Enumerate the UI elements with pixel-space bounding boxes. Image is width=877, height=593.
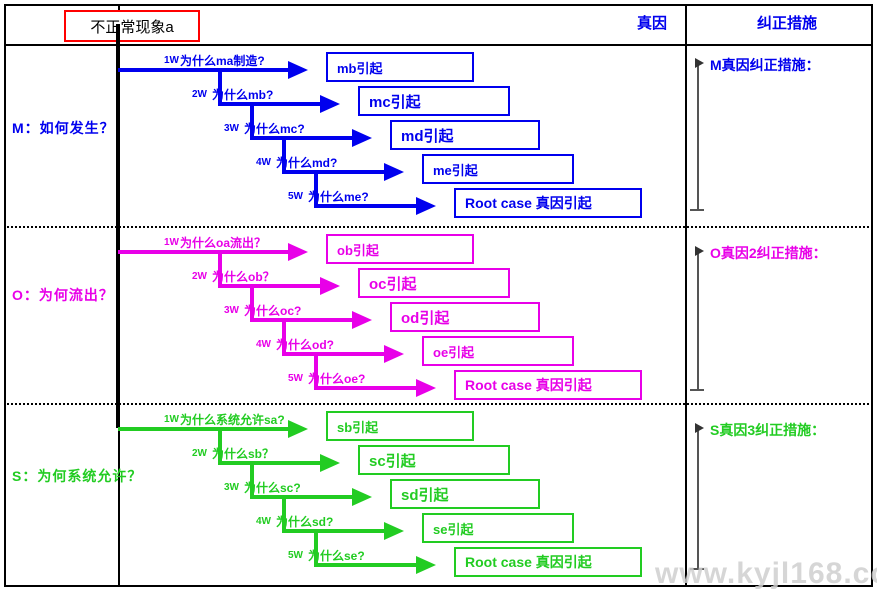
cause-box-label: Root case 真因引起	[456, 375, 592, 395]
table-right-border	[871, 4, 873, 587]
section-divider-m-o	[4, 226, 873, 228]
cause-box-label: se引起	[424, 519, 473, 538]
arrow-icon-m-5w	[416, 197, 436, 215]
why-count-label: 3W	[224, 305, 239, 316]
fishbone-5why-diagram: 真因 纠正措施 不正常现象a M：如何发生？1W为什么ma制造?mb引起2W为什…	[0, 0, 877, 593]
why-question-o-1w: 为什么oa流出？	[180, 234, 266, 251]
why-count-label: 5W	[288, 373, 303, 384]
cause-box-label: mb引起	[328, 58, 383, 77]
cause-box-m-1[interactable]: mb引起	[326, 52, 474, 82]
cause-box-label: md引起	[392, 125, 454, 146]
why-question-m-4w: 为什么md?	[276, 154, 337, 171]
cause-box-o-3[interactable]: od引起	[390, 302, 540, 332]
abnormal-phenomenon-box[interactable]: 不正常现象a	[64, 10, 200, 42]
why-question-o-5w: 为什么oe?	[308, 370, 365, 387]
why-question-s-1w: 为什么系统允许sa?	[180, 411, 285, 428]
why-count-label: 5W	[288, 550, 303, 561]
header-bottom-border	[4, 44, 873, 46]
cause-box-label: sc引起	[360, 450, 416, 471]
table-left-border	[4, 4, 6, 587]
arrow-icon-m-3w	[352, 129, 372, 147]
cause-box-m-5[interactable]: Root case 真因引起	[454, 188, 642, 218]
section-label-o: O：为何流出？	[12, 285, 114, 305]
header-root-cause: 真因	[637, 12, 667, 33]
arrow-icon-o-2w	[320, 277, 340, 295]
cause-box-m-2[interactable]: mc引起	[358, 86, 510, 116]
why-question-s-2w: 为什么sb？	[212, 445, 274, 462]
cause-box-o-5[interactable]: Root case 真因引起	[454, 370, 642, 400]
action-pointer-icon-o	[695, 246, 704, 256]
section-label-m: M：如何发生？	[12, 118, 115, 138]
why-count-label: 2W	[192, 448, 207, 459]
why-count-label: 5W	[288, 191, 303, 202]
header-corrective-action: 纠正措施	[757, 12, 817, 33]
why-count-label: 4W	[256, 339, 271, 350]
why-count-label: 1W	[164, 414, 179, 425]
arrow-icon-s-2w	[320, 454, 340, 472]
watermark: www.kyjl168.com	[655, 557, 877, 591]
cause-box-label: mc引起	[360, 91, 421, 112]
arrow-icon-o-1w	[288, 243, 308, 261]
cause-box-o-2[interactable]: oc引起	[358, 268, 510, 298]
why-count-label: 1W	[164, 55, 179, 66]
cause-box-label: sb引起	[328, 417, 378, 436]
why-question-o-2w: 为什么ob？	[212, 268, 275, 285]
action-pointer-icon-s	[695, 423, 704, 433]
why-question-m-1w: 为什么ma制造?	[180, 52, 265, 69]
why-question-s-4w: 为什么sd?	[276, 513, 333, 530]
cause-box-label: Root case 真因引起	[456, 552, 592, 572]
action-bracket-tick-o	[690, 389, 704, 391]
arrow-icon-o-3w	[352, 311, 372, 329]
abnormal-phenomenon-label: 不正常现象a	[90, 16, 173, 37]
why-question-o-3w: 为什么oc?	[244, 302, 301, 319]
why-count-label: 4W	[256, 157, 271, 168]
cause-box-s-5[interactable]: Root case 真因引起	[454, 547, 642, 577]
why-question-s-3w: 为什么sc?	[244, 479, 301, 496]
cause-box-s-3[interactable]: sd引起	[390, 479, 540, 509]
cause-box-label: oe引起	[424, 342, 474, 361]
arrow-icon-o-5w	[416, 379, 436, 397]
cause-box-o-4[interactable]: oe引起	[422, 336, 574, 366]
why-question-m-5w: 为什么me?	[308, 188, 369, 205]
cause-box-m-4[interactable]: me引起	[422, 154, 574, 184]
why-question-s-5w: 为什么se?	[308, 547, 365, 564]
cause-box-o-1[interactable]: ob引起	[326, 234, 474, 264]
why-count-label: 1W	[164, 237, 179, 248]
action-bracket-tick-m	[690, 209, 704, 211]
cause-box-label: me引起	[424, 160, 478, 179]
cause-box-label: oc引起	[360, 273, 417, 294]
why-question-m-3w: 为什么mc?	[244, 120, 305, 137]
arrow-icon-s-4w	[384, 522, 404, 540]
why-count-label: 3W	[224, 123, 239, 134]
corrective-action-m: M真因纠正措施：	[710, 55, 820, 75]
why-question-o-4w: 为什么od?	[276, 336, 334, 353]
corrective-action-s: S真因3纠正措施：	[710, 420, 825, 440]
table-top-border	[4, 4, 873, 6]
arrow-icon-s-5w	[416, 556, 436, 574]
arrow-icon-m-4w	[384, 163, 404, 181]
section-divider-o-s	[4, 403, 873, 405]
action-bracket-s	[697, 426, 699, 568]
arrow-icon-m-1w	[288, 61, 308, 79]
cause-box-label: sd引起	[392, 484, 449, 505]
why-count-label: 2W	[192, 89, 207, 100]
arrow-icon-o-4w	[384, 345, 404, 363]
arrow-icon-s-3w	[352, 488, 372, 506]
section-label-s: S：为何系统允许？	[12, 466, 142, 486]
why-count-label: 4W	[256, 516, 271, 527]
cause-box-label: ob引起	[328, 240, 379, 259]
main-spine	[116, 24, 120, 428]
action-bracket-m	[697, 61, 699, 209]
why-question-m-2w: 为什么mb?	[212, 86, 273, 103]
cause-box-label: Root case 真因引起	[456, 193, 592, 213]
why-count-label: 2W	[192, 271, 207, 282]
why-count-label: 3W	[224, 482, 239, 493]
corrective-action-o: O真因2纠正措施：	[710, 243, 827, 263]
cause-box-s-1[interactable]: sb引起	[326, 411, 474, 441]
cause-box-s-2[interactable]: sc引起	[358, 445, 510, 475]
cause-box-s-4[interactable]: se引起	[422, 513, 574, 543]
action-pointer-icon-m	[695, 58, 704, 68]
root-cause-column-divider	[685, 4, 687, 587]
arrow-icon-m-2w	[320, 95, 340, 113]
action-bracket-o	[697, 249, 699, 389]
cause-box-label: od引起	[392, 307, 449, 328]
cause-box-m-3[interactable]: md引起	[390, 120, 540, 150]
arrow-icon-s-1w	[288, 420, 308, 438]
